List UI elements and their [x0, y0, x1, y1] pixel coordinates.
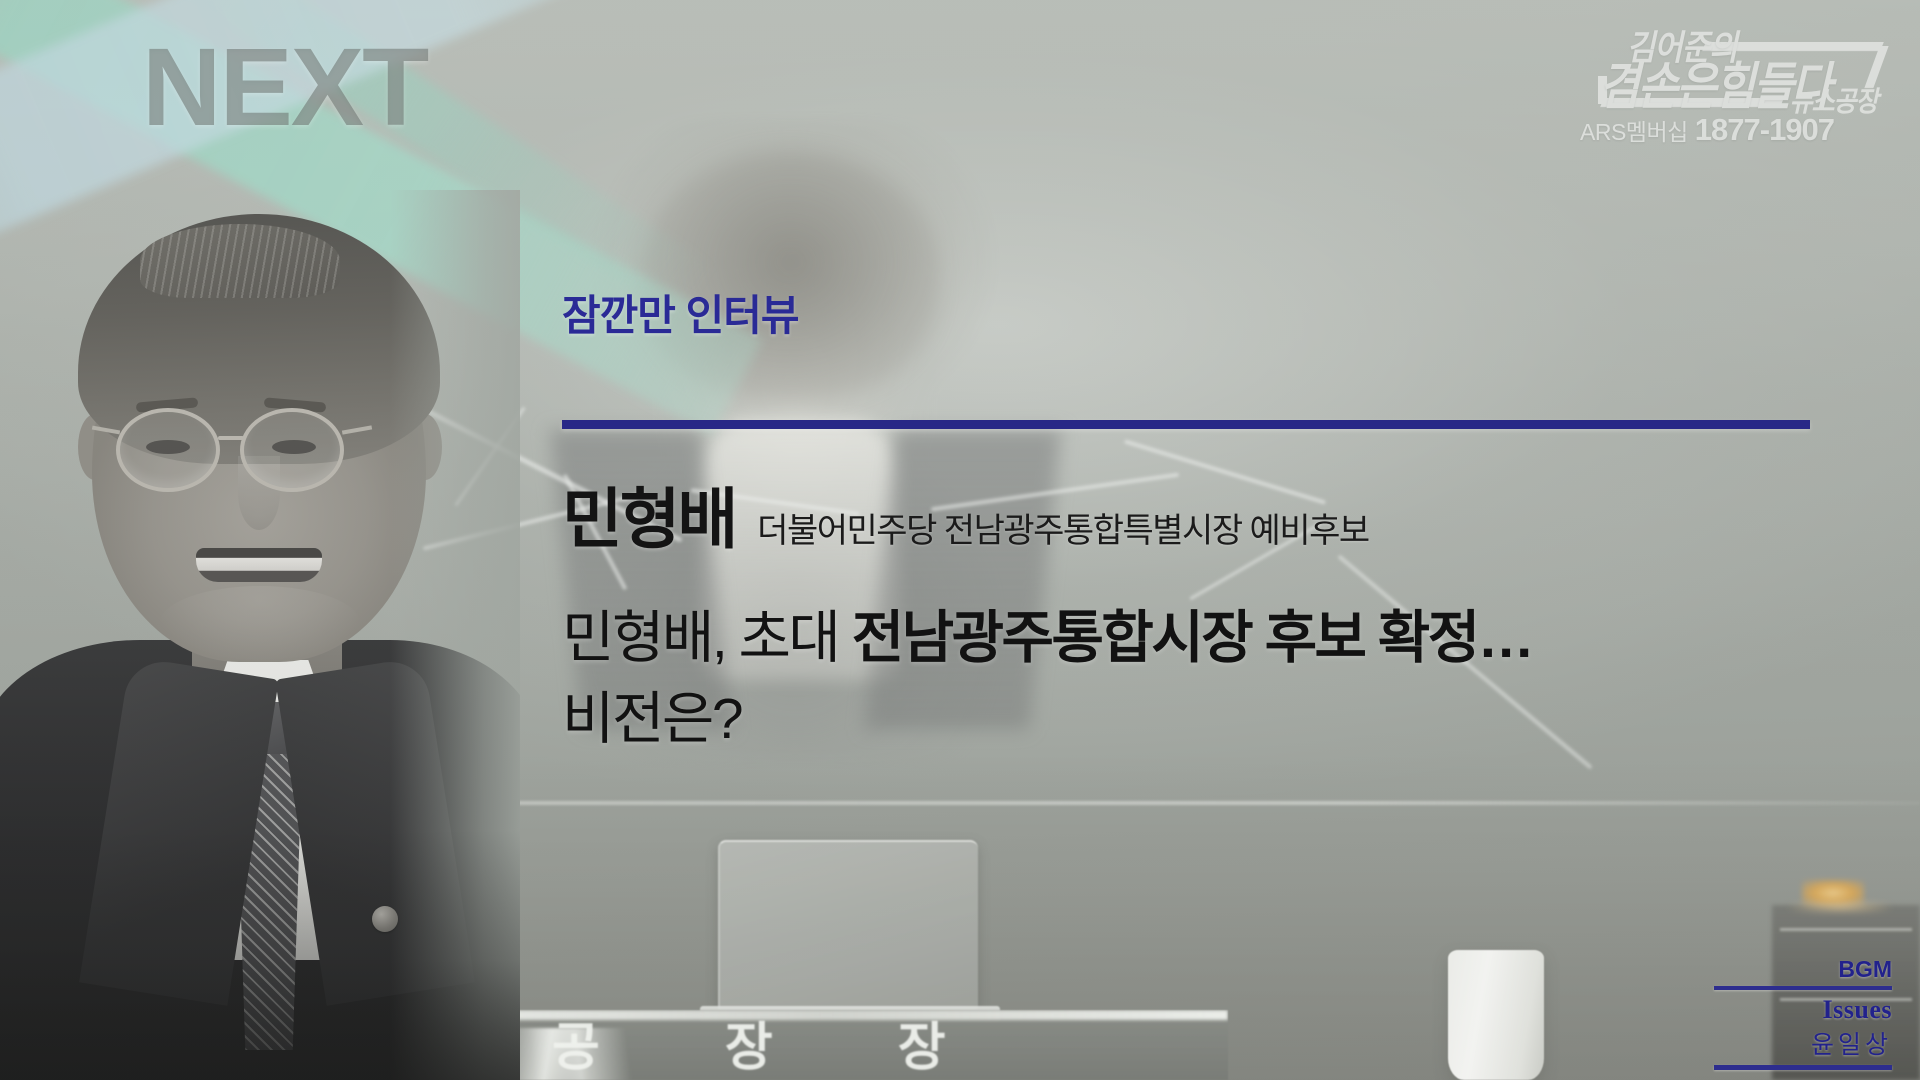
next-watermark: NEXT: [142, 24, 427, 151]
nameplate-char-1: 공: [552, 1016, 601, 1080]
segment-kicker: 잠깐만 인터뷰: [562, 282, 1862, 343]
program-logo: 김어준의 겸손은힘들다 뉴스공장 ARS멤버십 1877-1907: [1554, 20, 1888, 144]
laptop-screen: [718, 840, 978, 1010]
lower-third-panel: 잠깐만 인터뷰 민형배 더불어민주당 전남광주통합특별시장 예비후보 민형배, …: [562, 282, 1862, 343]
ars-membership: ARS멤버십 1877-1907: [1580, 112, 1834, 148]
eyeglasses-bridge: [218, 436, 244, 440]
bgm-credit: BGM Issues 윤일상: [1572, 956, 1892, 1070]
eyeglasses-lens-left: [116, 408, 220, 492]
guest-affiliation: 더불어민주당 전남광주통합특별시장 예비후보: [757, 503, 1369, 552]
lower-third-divider: [562, 420, 1810, 429]
nameplate-char-2: 장: [725, 1016, 774, 1080]
bgm-label: BGM: [1572, 956, 1892, 983]
bgm-track-title: Issues: [1572, 995, 1892, 1025]
guest-chin-highlight: [160, 586, 360, 660]
ars-membership-number: 1877-1907: [1695, 112, 1834, 148]
guest-smile: [196, 548, 322, 582]
broadcast-frame: 공 장 장 N: [0, 0, 1920, 1080]
eyeglasses-lens-right: [240, 408, 344, 492]
studio-nameplate: 공 장 장: [498, 1010, 1228, 1080]
studio-nameplate-text: 공 장 장: [498, 1016, 1228, 1080]
foreground-shadow: [0, 830, 520, 1080]
headline-line-2: 비전은?: [562, 687, 741, 751]
nameplate-char-3: 장: [898, 1016, 947, 1080]
headline: 민형배, 초대 전남광주통합시장 후보 확정… 비전은?: [562, 598, 1882, 760]
headline-emphasis: 전남광주통합시장 후보 확정…: [852, 606, 1532, 670]
studio-equipment-rack-line: [1780, 928, 1912, 931]
guest-hair-part: [140, 224, 340, 298]
headline-lead: 민형배, 초대: [562, 606, 852, 670]
bgm-divider-bottom: [1714, 1065, 1892, 1070]
ars-membership-label: ARS멤버십: [1580, 113, 1688, 147]
warm-indicator-glow: [1790, 902, 1890, 912]
guest-identification: 민형배 더불어민주당 전남광주통합특별시장 예비후보: [562, 466, 1369, 562]
guest-name: 민형배: [562, 466, 735, 562]
bgm-divider-top: [1714, 986, 1892, 990]
coffee-mug: [1448, 950, 1544, 1080]
bgm-artist-name: 윤일상: [1572, 1025, 1892, 1061]
